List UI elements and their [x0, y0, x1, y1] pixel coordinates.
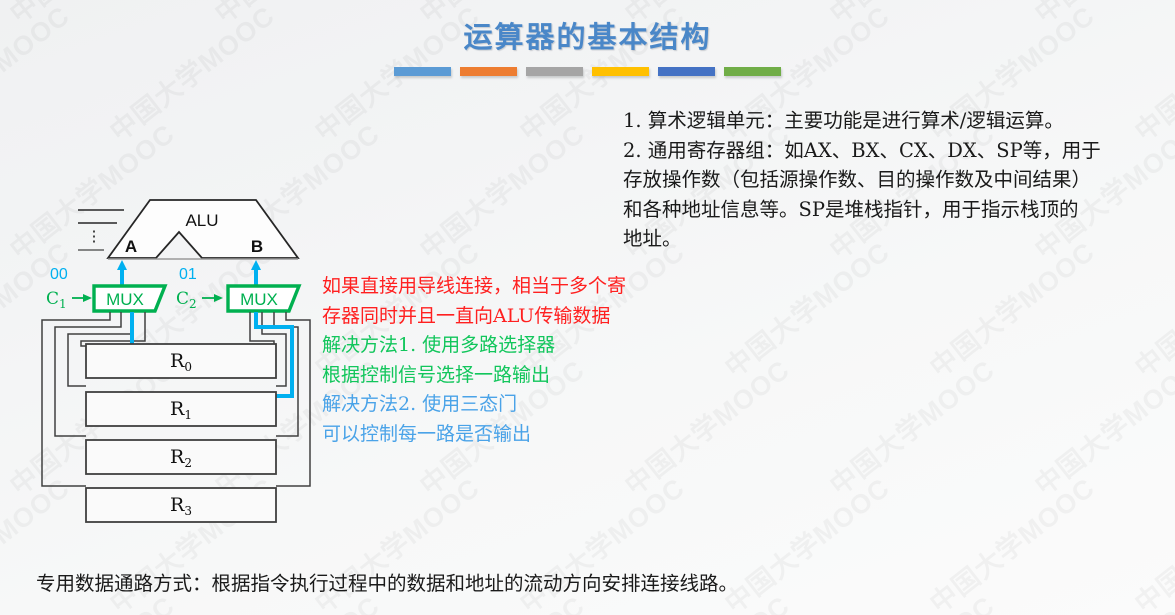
- watermark-text: 中国大学MOOC: [920, 231, 1102, 385]
- watermark-text: 中国大学MOOC: [920, 467, 1102, 615]
- accent-bar-indigo: [658, 67, 715, 76]
- title-block: 运算器的基本结构: [0, 14, 1175, 56]
- watermark-text: 中国大学MOOC: [820, 585, 1002, 615]
- register-1-label: R: [170, 398, 185, 420]
- input-ellipsis-icon: ⋮: [87, 228, 102, 245]
- register-box-2[interactable]: R2: [86, 440, 276, 474]
- annotation-line-0: 如果直接用导线连接，相当于多个寄: [322, 272, 622, 302]
- bottom-caption: 专用数据通路方式：根据指令执行过程中的数据和地址的流动方向安排连接线路。: [36, 567, 738, 596]
- mux-left-label: MUX: [106, 290, 144, 309]
- alu-input-a-label: A: [125, 237, 137, 256]
- page-title: 运算器的基本结构: [463, 20, 711, 54]
- mux-to-alu-arrow-left: [117, 260, 127, 286]
- register-2-label: R: [170, 446, 185, 468]
- info-panel: 1. 算术逻辑单元：主要功能是进行算术/逻辑运算。2. 通用寄存器组：如AX、B…: [623, 106, 1175, 254]
- title-accent-bars: [0, 67, 1175, 76]
- register-0-sub: 0: [184, 360, 192, 374]
- register-box-1[interactable]: R1: [86, 392, 276, 426]
- datapath-diagram: ⋮ ALU A B 00 01 C1 C2 MUX MUX: [24, 186, 334, 536]
- watermark-text: 中国大学MOOC: [820, 349, 1002, 503]
- register-3-label: R: [170, 494, 185, 516]
- select-code-left: 00: [50, 266, 68, 283]
- watermark-text: 中国大学MOOC: [1125, 467, 1175, 615]
- watermark-text: 中国大学MOOC: [715, 231, 897, 385]
- accent-bar-gray: [526, 67, 583, 76]
- register-0-label: R: [170, 350, 185, 372]
- register-3-sub: 3: [184, 504, 192, 518]
- info-line-2: 存放操作数（包括源操作数、目的操作数及中间结果）: [623, 165, 1175, 195]
- accent-bar-yellow: [592, 67, 649, 76]
- info-line-3: 和各种地址信息等。SP是堆栈指针，用于指示栈顶的: [623, 195, 1175, 225]
- svg-text:C2: C2: [176, 289, 197, 311]
- watermark-text: 中国大学MOOC: [410, 113, 592, 267]
- annotation-line-3: 根据控制信号选择一路输出: [322, 361, 622, 391]
- info-line-0: 1. 算术逻辑单元：主要功能是进行算术/逻辑运算。: [623, 106, 1175, 136]
- accent-bar-orange: [460, 67, 517, 76]
- control-signal-right: C2: [176, 289, 223, 311]
- watermark-text: 中国大学MOOC: [1025, 349, 1175, 503]
- annotation-line-5: 可以控制每一路是否输出: [322, 420, 622, 450]
- info-line-4: 地址。: [623, 224, 1175, 254]
- annotation-line-1: 存器同时并且一直向ALU传输数据: [322, 302, 622, 332]
- control-left-sub: 1: [59, 297, 67, 311]
- register-2-sub: 2: [184, 456, 192, 470]
- control-right-label: C: [176, 289, 189, 309]
- register-1-sub: 1: [184, 408, 192, 422]
- watermark-text: 中国大学MOOC: [715, 467, 897, 615]
- watermark-text: 中国大学MOOC: [1025, 585, 1175, 615]
- select-code-right: 01: [179, 266, 197, 283]
- register-box-0[interactable]: R0: [86, 344, 276, 378]
- register-box-3[interactable]: R3: [86, 488, 276, 522]
- annotation-line-2: 解决方法1. 使用多路选择器: [322, 331, 622, 361]
- alu-input-b-label: B: [251, 237, 263, 256]
- info-line-1: 2. 通用寄存器组：如AX、BX、CX、DX、SP等，用于: [623, 136, 1175, 166]
- annotation-panel: 如果直接用导线连接，相当于多个寄存器同时并且一直向ALU传输数据解决方法1. 使…: [322, 272, 622, 449]
- control-right-sub: 2: [189, 297, 197, 311]
- watermark-text: 中国大学MOOC: [1125, 231, 1175, 385]
- accent-bar-blue: [394, 67, 451, 76]
- mux-to-alu-arrow-right: [251, 260, 261, 286]
- svg-text:C1: C1: [46, 289, 67, 311]
- control-signal-left: C1: [46, 289, 92, 311]
- control-left-label: C: [46, 289, 59, 309]
- mux-right-label: MUX: [240, 290, 278, 309]
- watermark-text: 中国大学MOOC: [615, 349, 797, 503]
- alu-label: ALU: [185, 211, 218, 230]
- accent-bar-green: [724, 67, 781, 76]
- annotation-line-4: 解决方法2. 使用三态门: [322, 390, 622, 420]
